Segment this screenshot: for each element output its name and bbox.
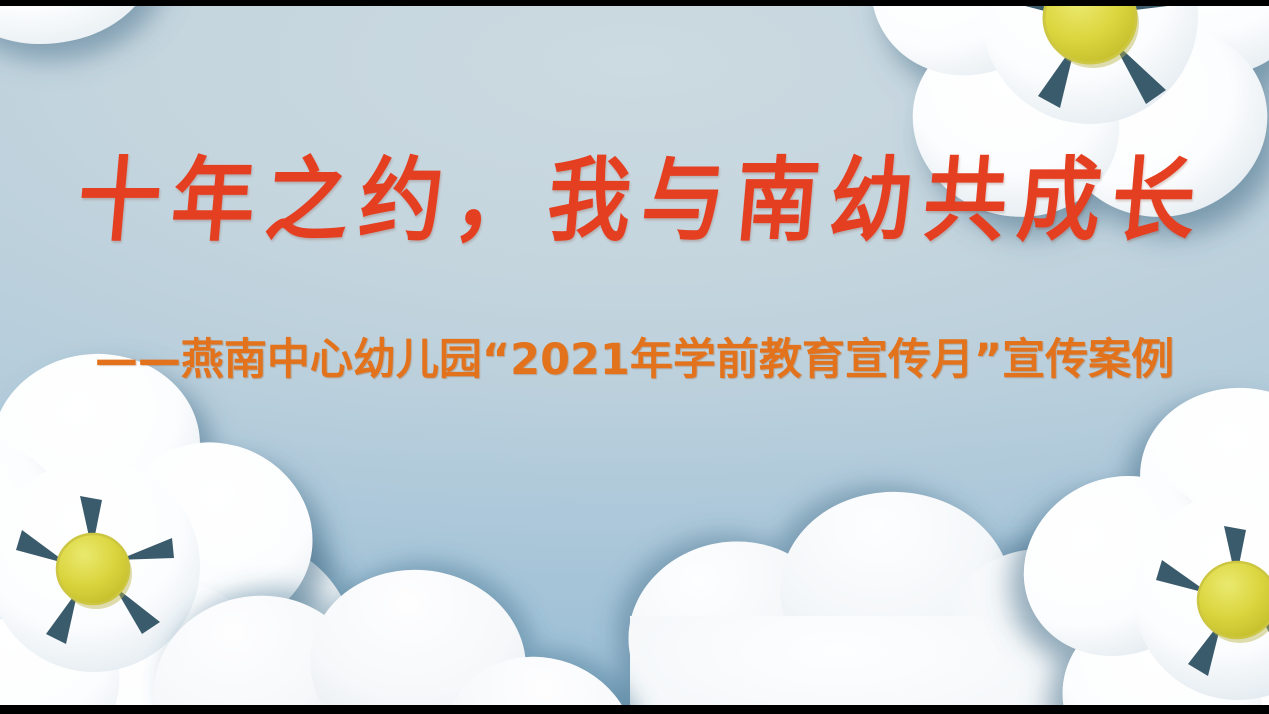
title-block: 十年之约，我与南幼共成长 <box>0 156 1269 246</box>
petal-group <box>993 378 1269 714</box>
petal-group <box>0 0 160 44</box>
presentation-slide: 十年之约，我与南幼共成长 ——燕南中心幼儿园“2021年学前教育宣传月”宣传案例 <box>0 0 1269 714</box>
subtitle-block: ——燕南中心幼儿园“2021年学前教育宣传月”宣传案例 <box>0 337 1269 384</box>
flower-top-left-partial <box>0 0 222 128</box>
main-title: 十年之约，我与南幼共成长 <box>59 152 1210 251</box>
subtitle: ——燕南中心幼儿园“2021年学前教育宣传月”宣传案例 <box>95 337 1174 384</box>
flower-bottom-right <box>1028 386 1269 714</box>
flower-bottom-center <box>150 568 580 714</box>
letterbox-bar-bottom <box>0 705 1269 714</box>
letterbox-bar-top <box>0 0 1269 6</box>
